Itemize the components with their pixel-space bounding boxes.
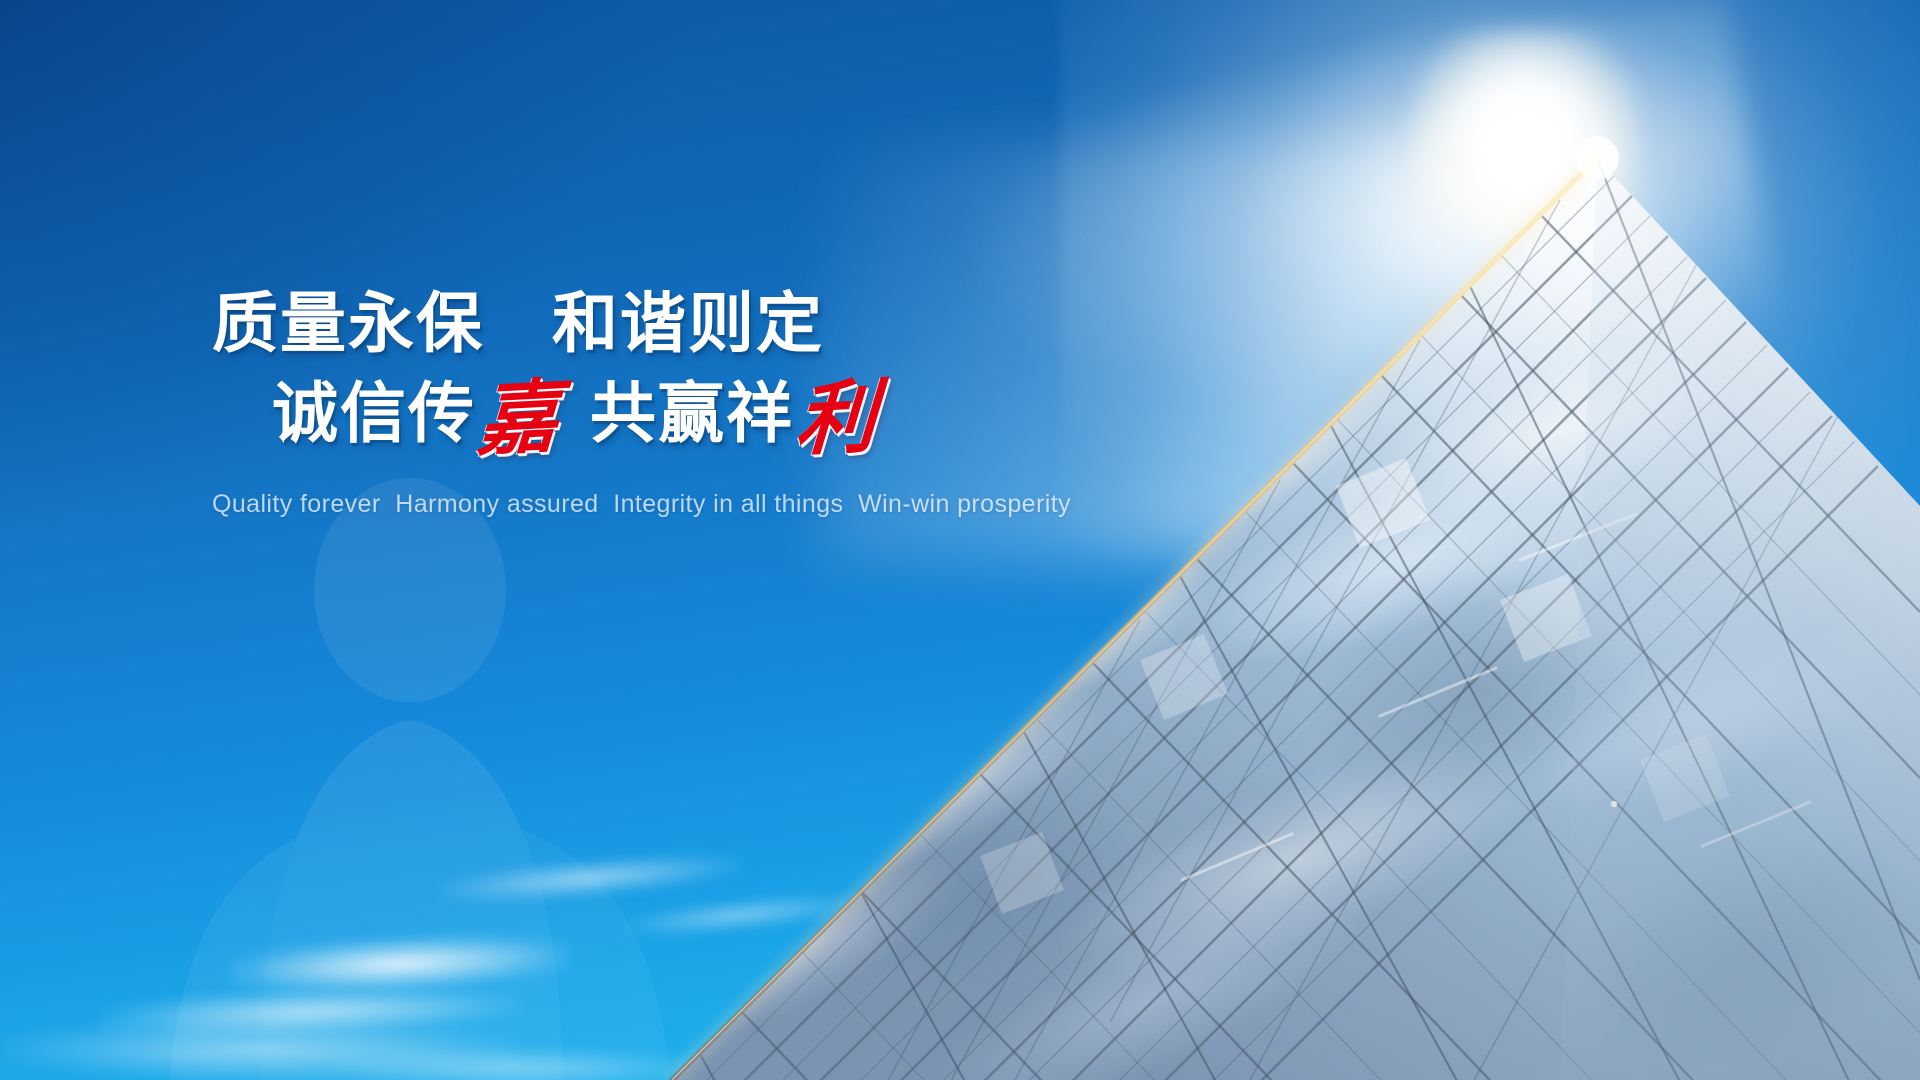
banner-copy: 质量永保 和谐则定 诚信传 嘉 共赢祥 利 Quality forever Ha… (0, 290, 1100, 519)
hero-banner: 质量永保 和谐则定 诚信传 嘉 共赢祥 利 Quality forever Ha… (0, 0, 1920, 1080)
sun-core (1410, 30, 1640, 240)
headline-segment-2: 共赢祥 (590, 380, 794, 446)
headline-segment-1: 诚信传 (272, 380, 476, 446)
subheadline: Quality forever Harmony assured Integrit… (0, 490, 1100, 519)
headline-line-2: 诚信传 嘉 共赢祥 利 (0, 376, 1100, 446)
headline-accent-li: 利 (794, 384, 880, 452)
headline-accent-jia: 嘉 (476, 384, 562, 452)
headline-line-1: 质量永保 和谐则定 (0, 290, 1100, 356)
